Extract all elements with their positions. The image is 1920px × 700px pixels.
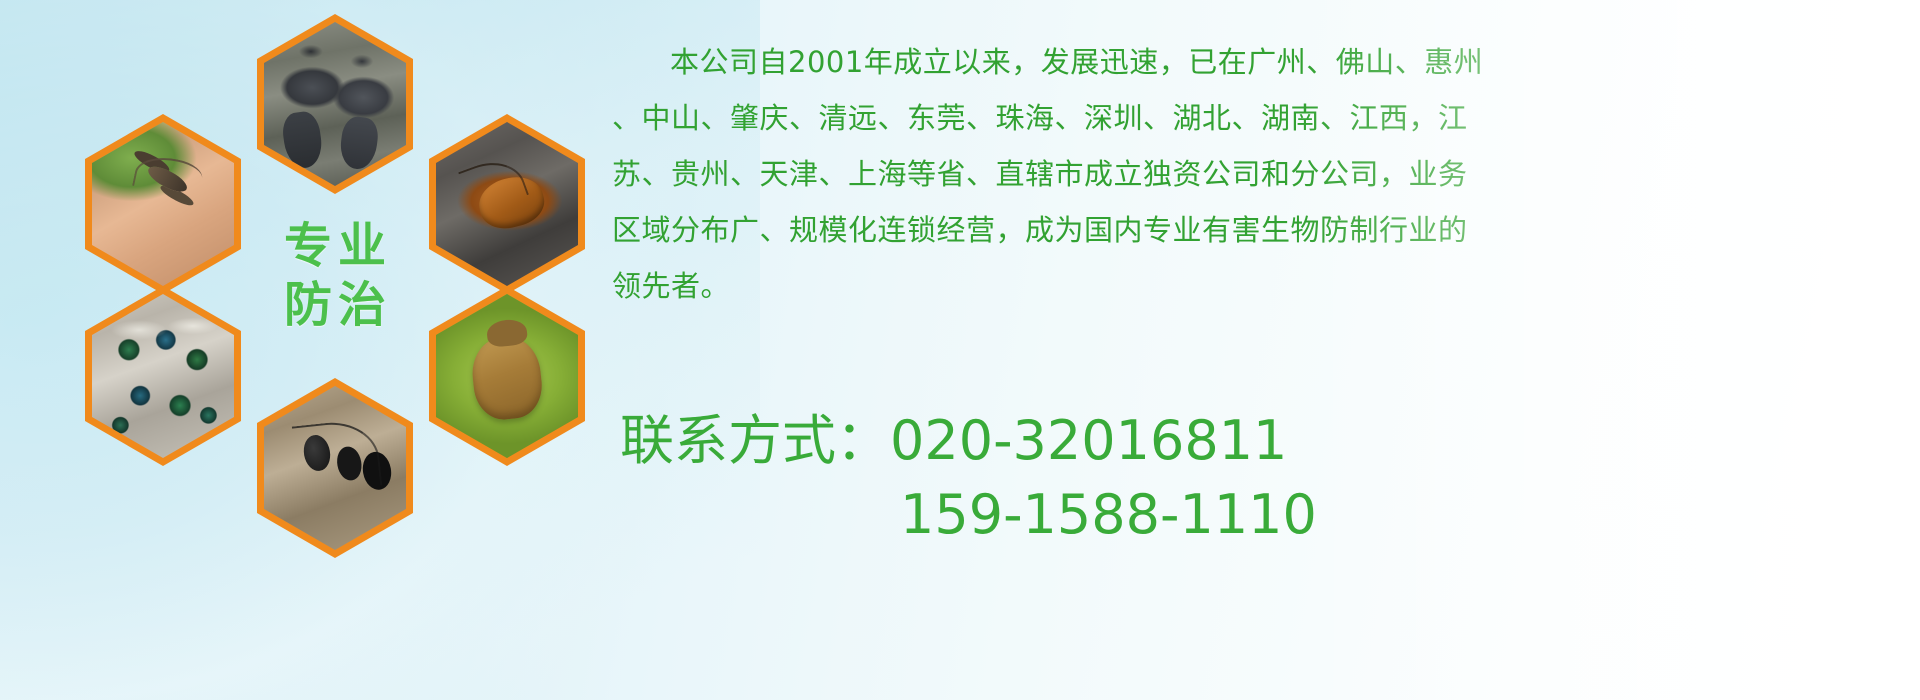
mosquito-photo-icon [92, 122, 234, 286]
contact-phone-mobile[interactable]: 159-1588-1110 [620, 478, 1317, 552]
rodent-photo-icon [264, 22, 406, 186]
description-line-1: 本公司自2001年成立以来，发展迅速，已在广州、佛山、惠州 [612, 34, 1892, 90]
promo-banner: 专业 防治 本公司自2001年成立以来，发展迅速，已在广州、佛山、惠州 、中山、… [0, 0, 1920, 700]
hex-photo-mosquito-frame [92, 122, 234, 286]
stink-bug-photo-icon [436, 294, 578, 458]
badge-line-2: 防治 [278, 276, 392, 335]
hex-photo-ant-frame [264, 386, 406, 550]
description-line-3: 苏、贵州、天津、上海等省、直辖市成立独资公司和分公司，业务 [612, 146, 1892, 202]
hexagon-photo-cluster: 专业 防治 [85, 14, 585, 559]
flies-photo-icon [92, 294, 234, 458]
cockroach-photo-icon [436, 122, 578, 286]
hex-photo-stinkbug-frame [436, 294, 578, 458]
company-description: 本公司自2001年成立以来，发展迅速，已在广州、佛山、惠州 、中山、肇庆、清远、… [612, 34, 1892, 314]
hex-photo-flies[interactable] [85, 286, 241, 466]
badge-professional-control: 专业 防治 [257, 186, 413, 366]
hex-photo-cockroach-frame [436, 122, 578, 286]
hex-photo-ant[interactable] [257, 378, 413, 558]
contact-phone-primary[interactable]: 联系方式：020-32016811 [620, 404, 1317, 478]
hex-photo-rats[interactable] [257, 14, 413, 194]
hex-photo-cockroach[interactable] [429, 114, 585, 294]
badge-line-1: 专业 [278, 217, 392, 276]
description-line-4: 区域分布广、规模化连锁经营，成为国内专业有害生物防制行业的 [612, 202, 1892, 258]
contact-block: 联系方式：020-32016811 159-1588-1110 [620, 404, 1317, 552]
hex-photo-flies-frame [92, 294, 234, 458]
hex-photo-rats-frame [264, 22, 406, 186]
description-line-2: 、中山、肇庆、清远、东莞、珠海、深圳、湖北、湖南、江西，江 [612, 90, 1892, 146]
ant-photo-icon [264, 386, 406, 550]
hex-photo-stinkbug[interactable] [429, 286, 585, 466]
description-line-5: 领先者。 [612, 258, 1892, 314]
hex-photo-mosquito[interactable] [85, 114, 241, 294]
